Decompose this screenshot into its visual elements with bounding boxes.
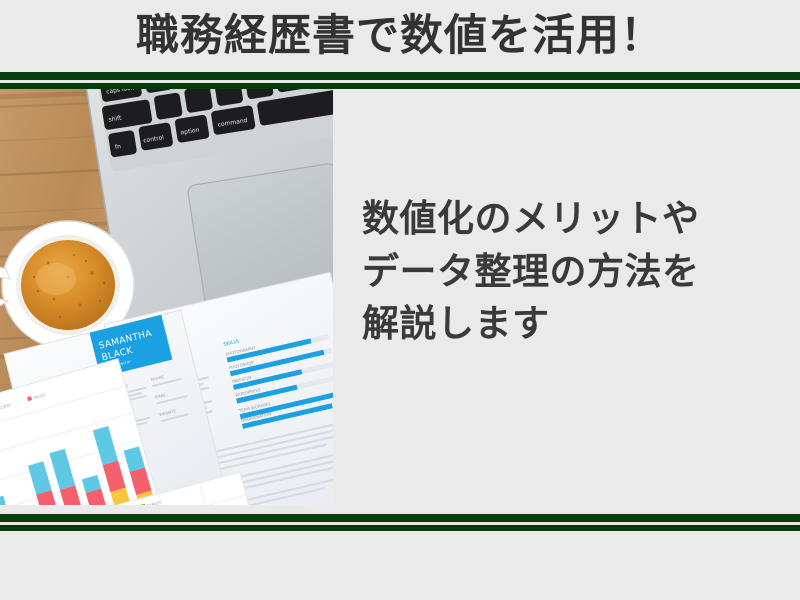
footer-blank-area	[0, 531, 800, 600]
divider-bottom-thick-rule	[0, 514, 800, 522]
body-copy: 数値化のメリットや データ整理の方法を 解説します	[362, 193, 782, 351]
divider-top-thick-rule	[0, 72, 800, 80]
body-line-1: 数値化のメリットや	[362, 193, 782, 246]
hero-photo-illustration: esc A S D B caps lock Z X C V shift ⌘ fn…	[0, 89, 333, 505]
hero-photo: esc A S D B caps lock Z X C V shift ⌘ fn…	[0, 89, 333, 505]
title-bar: 職務経歴書で数値を活用！	[0, 0, 800, 72]
body-line-3: 解説します	[362, 298, 782, 351]
divider-top	[0, 72, 800, 89]
page-title: 職務経歴書で数値を活用！	[136, 15, 664, 58]
body-line-2: データ整理の方法を	[362, 246, 782, 299]
divider-bottom	[0, 514, 800, 531]
banner-root: 職務経歴書で数値を活用！	[0, 0, 800, 600]
